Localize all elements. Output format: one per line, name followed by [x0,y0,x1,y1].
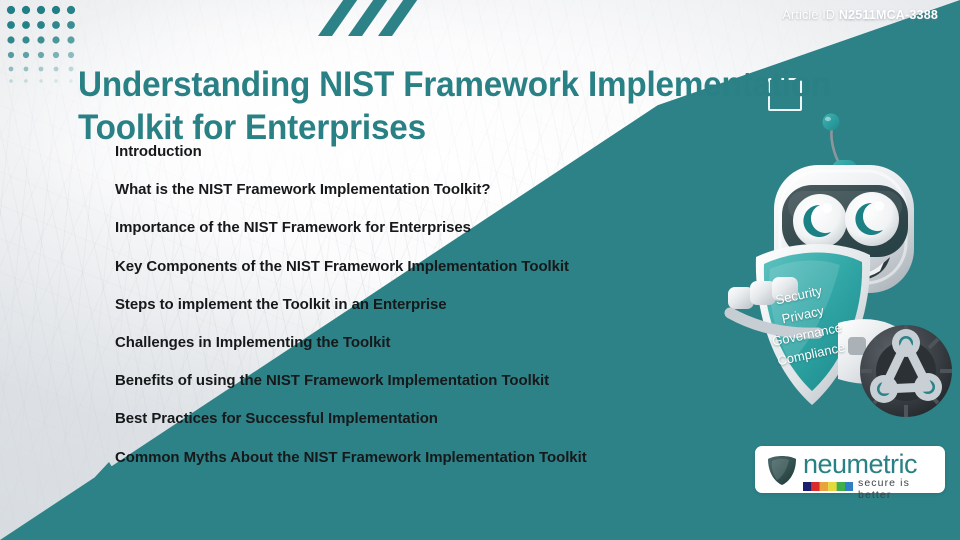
robot-mascot-illustration [720,105,960,440]
article-id: Article ID N2511MCA-3388 [782,8,938,22]
logo-wordmark: neumetric [803,450,917,478]
list-item[interactable]: Best Practices for Successful Implementa… [115,408,745,446]
slide-canvas: Article ID N2511MCA-3388 Understanding N… [0,0,960,540]
logo-tagline: secure is better [858,477,945,501]
list-item[interactable]: What is the NIST Framework Implementatio… [115,179,745,217]
neumetric-logo[interactable]: neumetric secure is better [755,446,945,493]
article-id-value: N2511MCA-3388 [839,8,938,22]
dot-matrix-decoration [6,5,86,90]
list-item[interactable]: Importance of the NIST Framework for Ent… [115,217,745,255]
list-item[interactable]: Introduction [115,141,745,179]
list-item[interactable]: Key Components of the NIST Framework Imp… [115,256,745,294]
list-item[interactable]: Challenges in Implementing the Toolkit [115,332,745,370]
top-slash-decoration [318,0,430,45]
list-item[interactable]: Common Myths About the NIST Framework Im… [115,447,745,485]
shield-icon [765,453,799,487]
article-id-label: Article ID [782,8,835,22]
logo-color-bar [803,478,853,496]
list-item[interactable]: Steps to implement the Toolkit in an Ent… [115,294,745,332]
list-item[interactable]: Benefits of using the NIST Framework Imp… [115,370,745,408]
table-of-contents: Introduction What is the NIST Framework … [115,141,755,485]
